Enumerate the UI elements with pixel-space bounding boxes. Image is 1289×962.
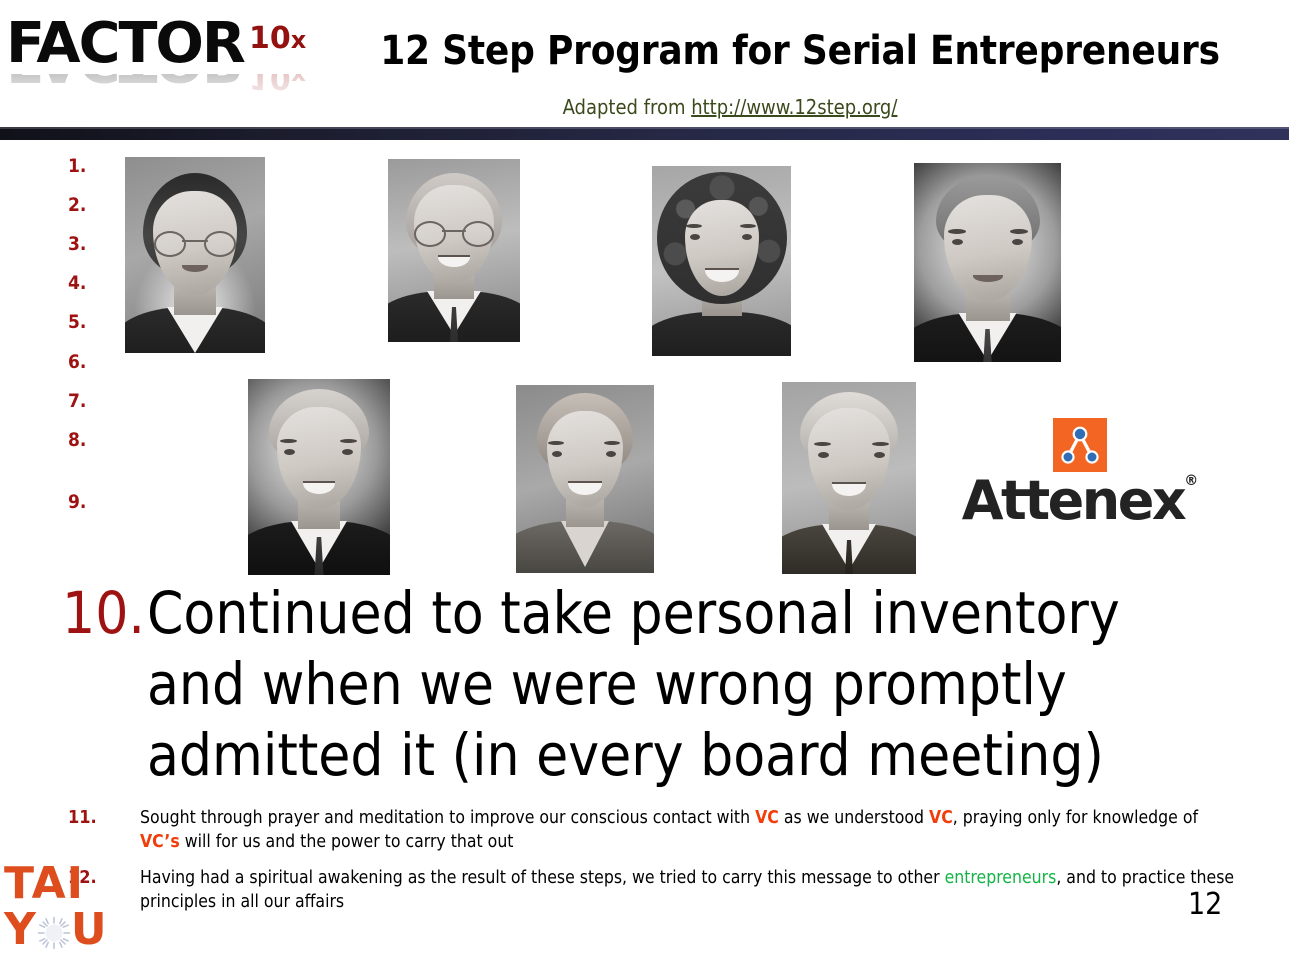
step-11-part3: , praying only for knowledge of bbox=[953, 808, 1198, 828]
taiyou-letter-u: U bbox=[71, 904, 108, 955]
sunburst-icon bbox=[37, 916, 71, 950]
factor10x-logo: FACTOR 10x FACTOR 10x bbox=[6, 8, 316, 116]
attenex-logo: Attenex® bbox=[955, 418, 1205, 530]
glasses-lens-right bbox=[462, 221, 494, 247]
step-marker-6: 6. bbox=[68, 351, 114, 373]
photo-eye-right bbox=[342, 449, 353, 455]
photo-eye-left bbox=[690, 234, 700, 240]
photo-eye-right bbox=[1012, 239, 1023, 245]
photo-eye-left bbox=[818, 452, 829, 458]
portrait-photo-7 bbox=[782, 382, 916, 574]
step-marker-3: 3. bbox=[68, 233, 114, 255]
photo-eye-left bbox=[284, 449, 295, 455]
glasses-lens-left bbox=[154, 231, 186, 257]
step-12-entrepreneurs: entrepreneurs bbox=[945, 868, 1057, 888]
step-11-vc-3: VC’s bbox=[140, 832, 180, 852]
photo-brow-left bbox=[280, 439, 297, 443]
portrait-photo-2 bbox=[388, 159, 520, 342]
glasses-lens-right bbox=[204, 231, 236, 257]
step-marker-4: 4. bbox=[68, 272, 114, 294]
step-marker-2: 2. bbox=[68, 194, 114, 216]
glasses-lens-left bbox=[414, 221, 446, 247]
photo-brow-left bbox=[814, 442, 831, 446]
source-link[interactable]: http://www.12step.org/ bbox=[691, 95, 897, 119]
photo-eye-left bbox=[552, 451, 562, 457]
page-number: 12 bbox=[1188, 887, 1222, 922]
step-marker-8: 8. bbox=[68, 429, 114, 451]
step-12: 12. Having had a spiritual awakening as … bbox=[68, 866, 1248, 914]
step-marker-1: 1. bbox=[68, 155, 114, 177]
photo-eye-right bbox=[606, 451, 616, 457]
header-divider-highlight bbox=[0, 127, 1289, 129]
portrait-photo-1 bbox=[125, 157, 265, 353]
portrait-photo-5 bbox=[248, 379, 390, 575]
photo-shoulders bbox=[652, 312, 791, 356]
page-title: 12 Step Program for Serial Entrepreneurs bbox=[330, 28, 1270, 74]
photo-brow-right bbox=[872, 442, 889, 446]
featured-step-text: Continued to take personal inventory and… bbox=[145, 578, 1222, 790]
step-11-part2: as we understood bbox=[779, 808, 929, 828]
photo-eye-right bbox=[742, 234, 752, 240]
step-11-part4: will for us and the power to carry that … bbox=[180, 832, 514, 852]
step-11-number: 11. bbox=[68, 806, 140, 831]
photo-eye-right bbox=[874, 452, 885, 458]
step-11-text: Sought through prayer and meditation to … bbox=[140, 806, 1238, 854]
photo-glasses bbox=[154, 231, 236, 253]
taiyou-letter-y: Y bbox=[4, 904, 37, 955]
taiyou-logo-top: TAI bbox=[4, 862, 84, 905]
photo-brow-right bbox=[340, 439, 357, 443]
node-tree-icon bbox=[1053, 418, 1107, 472]
photo-eye-left bbox=[952, 239, 963, 245]
attenex-wordmark-text: Attenex bbox=[962, 469, 1184, 532]
portrait-photo-3 bbox=[652, 166, 791, 356]
photo-brow-right bbox=[604, 441, 620, 445]
factor-wordmark: FACTOR bbox=[6, 16, 244, 72]
featured-step-number: 10. bbox=[62, 578, 145, 649]
attenex-wordmark: Attenex® bbox=[955, 474, 1205, 528]
photo-brow-left bbox=[686, 224, 702, 228]
photo-brow-right bbox=[1010, 229, 1028, 234]
photo-brow-left bbox=[948, 229, 966, 234]
portrait-photo-6 bbox=[516, 385, 654, 573]
factor-10x-superscript: 10x bbox=[249, 24, 306, 54]
step-marker-7: 7. bbox=[68, 390, 114, 412]
step-12-part1: Having had a spiritual awakening as the … bbox=[140, 868, 945, 888]
factor-logo-reflection: FACTOR 10x bbox=[6, 74, 316, 122]
slide-canvas: FACTOR 10x FACTOR 10x 12 Step Program fo… bbox=[0, 0, 1289, 962]
step-marker-5: 5. bbox=[68, 311, 114, 333]
featured-step: 10. Continued to take personal inventory… bbox=[62, 578, 1222, 790]
factor-10x-letter: x bbox=[291, 26, 306, 54]
reflection-fade-mask bbox=[6, 74, 316, 122]
factor-10x-number: 10 bbox=[249, 21, 291, 56]
step-marker-9: 9. bbox=[68, 491, 114, 513]
taiyou-logo: TAI Y U bbox=[2, 862, 122, 960]
subtitle: Adapted from http://www.12step.org/ bbox=[330, 95, 1130, 119]
step-11-part1: Sought through prayer and meditation to … bbox=[140, 808, 755, 828]
step-11-vc-2: VC bbox=[929, 808, 953, 828]
photo-brow-right bbox=[740, 224, 756, 228]
step-12-text: Having had a spiritual awakening as the … bbox=[140, 866, 1248, 914]
portrait-photo-4 bbox=[914, 163, 1061, 362]
photo-glasses bbox=[414, 221, 494, 243]
photo-brow-left bbox=[548, 441, 564, 445]
registered-trademark-icon: ® bbox=[1184, 473, 1198, 489]
taiyou-logo-bottom: Y U bbox=[4, 908, 108, 951]
subtitle-prefix: Adapted from bbox=[563, 95, 692, 119]
step-11-vc-1: VC bbox=[755, 808, 779, 828]
step-11: 11. Sought through prayer and meditation… bbox=[68, 806, 1238, 854]
